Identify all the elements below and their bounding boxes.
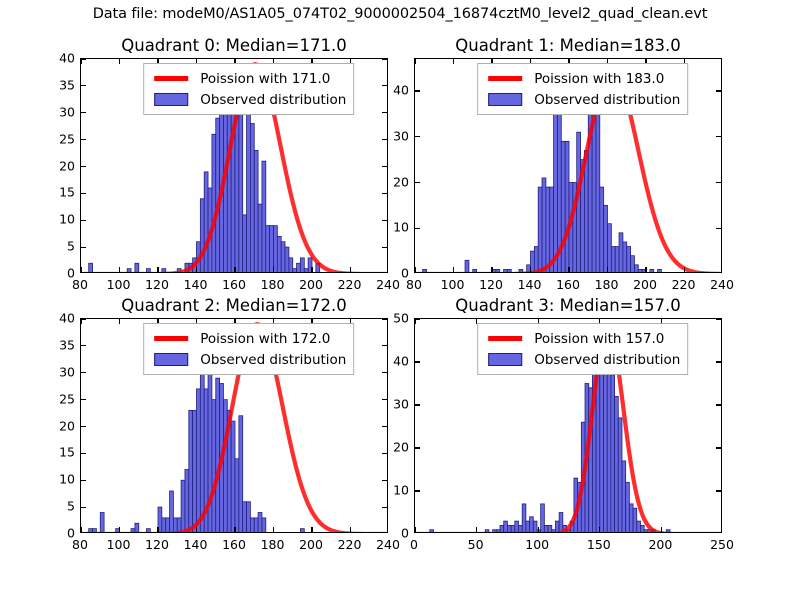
legend-entry: Poission with 172.0 — [150, 328, 346, 349]
histogram-bar — [258, 513, 262, 534]
y-tick-mark — [415, 447, 420, 448]
x-tick-label: 160 — [222, 537, 246, 552]
histogram-bar — [300, 258, 304, 273]
y-tick-mark — [81, 345, 86, 346]
histogram-bar — [526, 521, 530, 533]
x-tick-mark — [414, 319, 415, 324]
x-tick-mark — [80, 319, 81, 324]
legend-key — [484, 76, 526, 81]
histogram-bar — [518, 525, 522, 533]
histogram-bar — [162, 269, 166, 273]
histogram-bar — [596, 109, 600, 273]
histogram-bar — [135, 263, 139, 273]
x-tick-mark — [273, 267, 274, 272]
histogram-bar — [533, 521, 537, 533]
legend-entry: Observed distribution — [484, 89, 680, 110]
subplot-title-quadrant-0: Quadrant 0: Median=171.0 — [80, 36, 388, 55]
y-tick-mark — [382, 345, 387, 346]
histogram-bar — [552, 530, 556, 533]
y-tick-mark — [81, 399, 86, 400]
legend-patch-swatch — [488, 353, 522, 366]
legend-label: Poission with 171.0 — [192, 71, 330, 87]
x-tick-label: 200 — [633, 277, 657, 292]
legend-entry: Observed distribution — [150, 89, 346, 110]
y-tick-mark — [81, 426, 86, 427]
legend-quadrant-2[interactable]: Poission with 172.0Observed distribution — [143, 323, 354, 375]
histogram-bar — [277, 236, 281, 273]
x-tick-mark — [80, 527, 81, 532]
histogram-bar — [626, 482, 630, 533]
legend-patch-swatch — [154, 353, 188, 366]
x-tick-mark — [684, 267, 685, 272]
y-tick-mark — [382, 112, 387, 113]
x-tick-mark — [80, 267, 81, 272]
histogram-bar — [611, 247, 615, 273]
histogram-bar — [633, 508, 637, 533]
histogram-bar — [300, 529, 304, 533]
histogram-bar — [627, 247, 631, 273]
legend-label: Observed distribution — [192, 92, 346, 108]
x-tick-label: 0 — [410, 537, 418, 552]
histogram-bar — [181, 480, 185, 533]
histogram-bar — [658, 269, 662, 273]
histogram-bar — [538, 187, 542, 273]
histogram-bar — [622, 461, 626, 533]
y-tick-mark — [81, 318, 86, 319]
histogram-bar — [504, 521, 508, 533]
x-tick-label: 100 — [441, 277, 465, 292]
histogram-bar — [530, 517, 534, 533]
y-tick-label: 30 — [59, 364, 75, 379]
y-tick-mark — [382, 139, 387, 140]
y-tick-mark — [716, 361, 721, 362]
histogram-bar — [166, 518, 170, 533]
matplotlib-figure: Data file: modeM0/AS1A05_074T02_90000025… — [0, 0, 800, 600]
y-tick-mark — [81, 139, 86, 140]
x-tick-mark — [538, 527, 539, 532]
histogram-bar — [650, 269, 654, 273]
legend-entry: Observed distribution — [484, 349, 680, 370]
legend-line-swatch — [488, 336, 522, 341]
y-tick-mark — [415, 136, 420, 137]
x-tick-mark — [645, 267, 646, 272]
y-tick-mark — [716, 136, 721, 137]
legend-entry: Observed distribution — [150, 349, 346, 370]
x-tick-label: 240 — [376, 537, 400, 552]
histogram-bar — [640, 525, 644, 533]
histogram-bar — [493, 530, 497, 533]
histogram-bar — [235, 107, 239, 273]
histogram-bar — [507, 525, 511, 533]
x-tick-mark — [273, 527, 274, 532]
y-tick-mark — [382, 399, 387, 400]
histogram-bar — [604, 362, 608, 533]
x-tick-mark — [350, 527, 351, 532]
histogram-bar — [604, 205, 608, 273]
x-tick-label: 180 — [261, 277, 285, 292]
histogram-bar — [293, 269, 297, 273]
histogram-bar — [262, 518, 266, 533]
histogram-bar — [541, 504, 545, 533]
histogram-bar — [212, 400, 216, 533]
x-tick-label: 120 — [479, 277, 503, 292]
legend-entry: Poission with 157.0 — [484, 328, 680, 349]
y-tick-label: 40 — [59, 311, 75, 326]
histogram-bar — [274, 226, 278, 273]
x-tick-label: 80 — [72, 537, 88, 552]
legend-key — [484, 93, 526, 106]
x-tick-label: 50 — [468, 537, 484, 552]
histogram-bar — [608, 224, 612, 273]
histogram-bar — [270, 226, 274, 273]
x-tick-mark — [196, 527, 197, 532]
histogram-bar — [634, 265, 638, 273]
x-tick-label: 100 — [107, 537, 131, 552]
x-tick-mark — [476, 527, 477, 532]
legend-line-swatch — [154, 336, 188, 341]
x-tick-label: 240 — [710, 277, 734, 292]
x-tick-label: 100 — [107, 277, 131, 292]
histogram-bar — [185, 470, 189, 534]
x-tick-mark — [234, 527, 235, 532]
histogram-bar — [619, 233, 623, 273]
histogram-bar — [638, 269, 642, 273]
histogram-bar — [212, 134, 216, 273]
histogram-bar — [500, 525, 504, 533]
histogram-bar — [173, 518, 177, 533]
histogram-bar — [485, 530, 489, 533]
y-tick-mark — [382, 453, 387, 454]
x-tick-label: 160 — [556, 277, 580, 292]
x-tick-label: 220 — [338, 537, 362, 552]
histogram-bar — [204, 172, 208, 273]
legend-line-swatch — [154, 76, 188, 81]
y-tick-mark — [716, 318, 721, 319]
x-tick-label: 180 — [261, 537, 285, 552]
y-tick-label: 0 — [401, 526, 409, 541]
y-tick-label: 10 — [393, 220, 409, 235]
y-tick-mark — [81, 507, 86, 508]
y-tick-label: 40 — [393, 83, 409, 98]
y-tick-label: 35 — [59, 337, 75, 352]
legend-key — [484, 336, 526, 341]
y-tick-label: 35 — [59, 77, 75, 92]
x-tick-label: 200 — [648, 537, 672, 552]
subplot-quadrant-2: Quadrant 2: Median=172.0 051015202530354… — [80, 318, 388, 533]
histogram-bar — [254, 150, 258, 273]
y-tick-mark — [415, 361, 420, 362]
y-tick-mark — [415, 182, 420, 183]
y-tick-mark — [382, 58, 387, 59]
histogram-bar — [266, 226, 270, 273]
x-tick-mark — [414, 527, 415, 532]
legend-quadrant-1[interactable]: Poission with 183.0Observed distribution — [477, 63, 688, 115]
y-tick-label: 40 — [59, 51, 75, 66]
legend-patch-swatch — [488, 93, 522, 106]
y-tick-mark — [81, 166, 86, 167]
histogram-bar — [600, 187, 604, 273]
legend-key — [150, 76, 192, 81]
histogram-bar — [666, 530, 670, 533]
y-tick-mark — [716, 90, 721, 91]
x-tick-label: 150 — [587, 537, 611, 552]
histogram-bar — [637, 521, 641, 533]
legend-quadrant-3[interactable]: Poission with 157.0Observed distribution — [477, 323, 688, 375]
x-tick-label: 80 — [406, 277, 422, 292]
histogram-bar — [534, 247, 538, 273]
histogram-bar — [297, 263, 301, 273]
y-tick-label: 20 — [393, 440, 409, 455]
y-tick-mark — [415, 318, 420, 319]
x-tick-label: 100 — [525, 537, 549, 552]
x-tick-label: 120 — [145, 277, 169, 292]
histogram-bars — [89, 357, 305, 533]
x-tick-label: 240 — [376, 277, 400, 292]
x-tick-mark — [453, 59, 454, 64]
y-tick-mark — [382, 247, 387, 248]
histogram-bar — [243, 502, 247, 533]
y-tick-label: 25 — [59, 131, 75, 146]
subplot-quadrant-3: Quadrant 3: Median=157.0 010203040500501… — [414, 318, 722, 533]
histogram-bar — [239, 416, 243, 533]
histogram-bar — [170, 491, 174, 533]
histogram-bar — [423, 269, 427, 273]
y-tick-label: 20 — [59, 418, 75, 433]
histogram-bar — [565, 141, 569, 273]
y-tick-label: 40 — [393, 354, 409, 369]
x-tick-mark — [234, 267, 235, 272]
histogram-bar — [504, 269, 508, 273]
y-tick-label: 5 — [67, 239, 75, 254]
histogram-bar — [254, 518, 258, 533]
histogram-bar — [304, 269, 308, 273]
histogram-bar — [258, 204, 262, 273]
histogram-bar — [615, 247, 619, 273]
legend-key — [150, 336, 192, 341]
y-tick-mark — [81, 453, 86, 454]
histogram-bar — [554, 109, 558, 273]
legend-patch-swatch — [154, 93, 188, 106]
x-tick-mark — [414, 59, 415, 64]
histogram-bar — [262, 161, 266, 273]
histogram-bar — [223, 400, 227, 533]
histogram-bar — [644, 530, 648, 533]
x-tick-mark — [157, 267, 158, 272]
y-tick-mark — [716, 447, 721, 448]
subplot-quadrant-1: Quadrant 1: Median=183.0 010203040801001… — [414, 58, 722, 273]
subplot-title-quadrant-3: Quadrant 3: Median=157.0 — [414, 296, 722, 315]
histogram-bar — [243, 215, 247, 273]
y-tick-mark — [382, 318, 387, 319]
y-tick-label: 15 — [59, 185, 75, 200]
x-tick-label: 200 — [299, 277, 323, 292]
x-tick-mark — [599, 527, 600, 532]
x-tick-label: 140 — [184, 277, 208, 292]
x-tick-label: 80 — [72, 277, 88, 292]
legend-entry: Poission with 183.0 — [484, 68, 680, 89]
y-tick-mark — [81, 372, 86, 373]
histogram-bar — [250, 124, 254, 274]
histogram-bar — [473, 269, 477, 273]
y-tick-label: 30 — [393, 128, 409, 143]
y-tick-mark — [382, 193, 387, 194]
figure-suptitle: Data file: modeM0/AS1A05_074T02_90000025… — [0, 6, 800, 22]
y-tick-mark — [415, 90, 420, 91]
y-tick-label: 10 — [393, 483, 409, 498]
histogram-bar — [93, 529, 97, 533]
x-tick-mark — [311, 527, 312, 532]
y-tick-mark — [81, 220, 86, 221]
histogram-bar — [519, 269, 523, 273]
y-tick-mark — [382, 480, 387, 481]
histogram-bar — [607, 358, 611, 533]
legend-label: Poission with 183.0 — [526, 71, 664, 87]
histogram-bar — [200, 199, 204, 273]
y-tick-mark — [415, 228, 420, 229]
x-tick-label: 250 — [710, 537, 734, 552]
y-tick-label: 20 — [393, 174, 409, 189]
histogram-bar — [561, 141, 565, 273]
legend-label: Observed distribution — [526, 352, 680, 368]
subplot-title-quadrant-2: Quadrant 2: Median=172.0 — [80, 296, 388, 315]
y-tick-mark — [382, 426, 387, 427]
x-tick-mark — [568, 267, 569, 272]
x-tick-mark — [453, 267, 454, 272]
histogram-bar — [247, 502, 251, 533]
histogram-bar — [193, 410, 197, 533]
y-tick-mark — [382, 507, 387, 508]
y-tick-mark — [81, 112, 86, 113]
histogram-bar — [197, 389, 201, 533]
x-tick-label: 140 — [518, 277, 542, 292]
x-tick-mark — [119, 319, 120, 324]
y-tick-mark — [81, 85, 86, 86]
histogram-bar — [231, 421, 235, 533]
y-tick-mark — [415, 490, 420, 491]
legend-entry: Poission with 171.0 — [150, 68, 346, 89]
y-tick-mark — [716, 404, 721, 405]
legend-key — [484, 353, 526, 366]
histogram-bar — [542, 178, 546, 273]
histogram-bar — [250, 518, 254, 533]
x-tick-label: 160 — [222, 277, 246, 292]
y-tick-label: 5 — [67, 499, 75, 514]
histogram-bar — [100, 513, 104, 534]
x-tick-label: 120 — [145, 537, 169, 552]
y-tick-mark — [716, 228, 721, 229]
histogram-bar — [615, 396, 619, 533]
histogram-bar — [146, 529, 150, 533]
histogram-bar — [430, 530, 434, 533]
histogram-bar — [189, 410, 193, 533]
x-tick-mark — [119, 267, 120, 272]
x-tick-label: 220 — [338, 277, 362, 292]
y-tick-mark — [716, 490, 721, 491]
histogram-bar — [496, 269, 500, 273]
subplot-quadrant-0: Quadrant 0: Median=171.0 051015202530354… — [80, 58, 388, 273]
histogram-bar — [247, 102, 251, 273]
histogram-bar — [546, 187, 550, 273]
x-tick-mark — [311, 267, 312, 272]
histogram-bar — [631, 256, 635, 273]
legend-quadrant-0[interactable]: Poission with 171.0Observed distribution — [143, 63, 354, 115]
x-tick-mark — [661, 527, 662, 532]
x-tick-mark — [119, 527, 120, 532]
y-tick-label: 20 — [59, 158, 75, 173]
y-tick-label: 10 — [59, 212, 75, 227]
histogram-bar — [544, 525, 548, 533]
y-tick-label: 50 — [393, 311, 409, 326]
y-tick-mark — [382, 372, 387, 373]
x-tick-mark — [530, 267, 531, 272]
histogram-bar — [465, 260, 469, 273]
subplot-title-quadrant-1: Quadrant 1: Median=183.0 — [414, 36, 722, 55]
x-tick-label: 220 — [672, 277, 696, 292]
y-tick-label: 30 — [59, 104, 75, 119]
histogram-bar — [89, 529, 93, 533]
x-tick-mark — [80, 59, 81, 64]
x-tick-label: 200 — [299, 537, 323, 552]
legend-key — [150, 93, 192, 106]
histogram-bar — [507, 269, 511, 273]
histogram-bar — [496, 530, 500, 533]
y-tick-label: 10 — [59, 472, 75, 487]
x-tick-mark — [607, 267, 608, 272]
y-tick-mark — [382, 220, 387, 221]
histogram-bar — [618, 418, 622, 533]
legend-label: Observed distribution — [526, 92, 680, 108]
y-tick-mark — [415, 404, 420, 405]
x-tick-mark — [414, 267, 415, 272]
histogram-bar — [127, 269, 131, 273]
legend-key — [150, 353, 192, 366]
histogram-bar — [131, 529, 135, 533]
histogram-bar — [281, 242, 285, 273]
y-tick-mark — [382, 85, 387, 86]
histogram-bar — [629, 504, 633, 533]
histogram-bar — [623, 242, 627, 273]
histogram-bar — [146, 269, 150, 273]
y-tick-mark — [382, 166, 387, 167]
x-tick-mark — [196, 267, 197, 272]
x-tick-label: 180 — [595, 277, 619, 292]
x-tick-mark — [119, 59, 120, 64]
y-tick-mark — [81, 247, 86, 248]
histogram-bar — [522, 504, 526, 533]
legend-label: Poission with 172.0 — [192, 331, 330, 347]
x-tick-mark — [491, 267, 492, 272]
histogram-bar — [235, 459, 239, 533]
histogram-bar — [162, 518, 166, 533]
y-tick-label: 30 — [393, 397, 409, 412]
histogram-bar — [611, 375, 615, 533]
histogram-bar — [289, 258, 293, 273]
histogram-bar — [216, 378, 220, 533]
legend-line-swatch — [488, 76, 522, 81]
y-tick-mark — [81, 58, 86, 59]
legend-label: Observed distribution — [192, 352, 346, 368]
histogram-bar — [200, 373, 204, 533]
y-tick-label: 15 — [59, 445, 75, 460]
y-tick-label: 25 — [59, 391, 75, 406]
y-tick-mark — [81, 193, 86, 194]
histogram-bar — [285, 247, 289, 273]
histogram-bar — [511, 525, 515, 533]
x-tick-mark — [350, 267, 351, 272]
histogram-bar — [135, 523, 139, 533]
legend-label: Poission with 157.0 — [526, 331, 664, 347]
x-tick-label: 140 — [184, 537, 208, 552]
